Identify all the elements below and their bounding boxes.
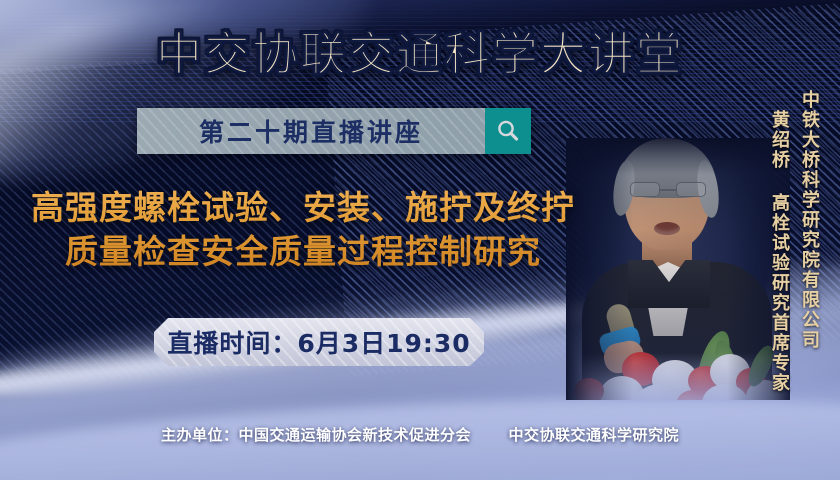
lecture-topic: 高强度螺栓试验、安装、施拧及终拧 质量检查安全质量过程控制研究 <box>12 186 594 273</box>
broadcast-time-label: 直播时间：6月3日19:30 <box>167 324 470 360</box>
episode-label: 第二十期直播讲座 <box>199 113 423 149</box>
episode-banner-body: 第二十期直播讲座 <box>137 108 485 154</box>
speaker-organization: 中铁大桥科学研究院有限公司 <box>796 90 822 350</box>
speaker-photo <box>566 138 790 400</box>
search-icon[interactable] <box>485 108 531 154</box>
episode-banner[interactable]: 第二十期直播讲座 <box>137 108 531 154</box>
photo-vignette <box>566 138 790 400</box>
speaker-name-role: 黄绍桥 高栓试验研究首席专家 <box>766 110 792 393</box>
lecture-topic-line2: 质量检查安全质量过程控制研究 <box>12 230 594 274</box>
page-title: 中交协联交通科学大讲堂 <box>0 18 840 84</box>
lecture-topic-line1: 高强度螺栓试验、安装、施拧及终拧 <box>12 186 594 230</box>
organizer-footer: 主办单位：中国交通运输协会新技术促进分会 中交协联交通科学研究院 <box>0 424 840 445</box>
broadcast-time-badge: 直播时间：6月3日19:30 <box>154 318 484 366</box>
organizer-secondary: 中交协联交通科学研究院 <box>508 426 679 444</box>
poster-canvas: 中交协联交通科学大讲堂 第二十期直播讲座 高强度螺栓试验、安装、施拧及终拧 质量… <box>0 0 840 480</box>
organizer-primary: 主办单位：中国交通运输协会新技术促进分会 <box>161 426 471 444</box>
